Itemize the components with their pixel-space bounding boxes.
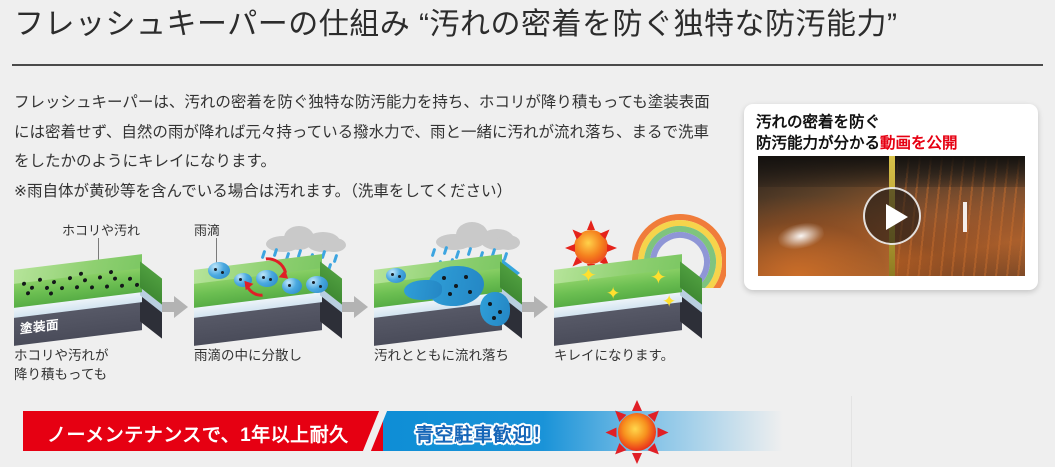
body-copy: フレッシュキーパーは、汚れの密着を防ぐ独特な防汚能力を持ち、ホコリが降り積もって… — [14, 88, 714, 206]
banner-blue-text: 青空駐車歓迎！ — [415, 420, 552, 447]
banner-red-text: ノーメンテナンスで、1年以上耐久 — [47, 420, 349, 447]
panel2-caption-line1: 雨滴の中に分散し — [194, 346, 370, 365]
play-icon[interactable] — [863, 187, 921, 245]
panel2-caption: 雨滴の中に分散し — [194, 346, 370, 365]
product-feature-page: フレッシュキーパーの仕組み “汚れの密着を防ぐ独特な防汚能力” フレッシュキーパ… — [0, 0, 1055, 467]
promo-banner: ノーメンテナンスで、1年以上耐久 青空駐車歓迎！ — [23, 411, 783, 451]
play-triangle — [886, 204, 908, 230]
sun-core — [618, 413, 656, 451]
right-arrow-icon — [522, 296, 548, 318]
video-headline-line2: 防汚能力が分かる動画を公開 — [756, 133, 1028, 154]
video-headline-plain: 防汚能力が分かる — [756, 135, 880, 152]
title-divider — [12, 64, 1043, 66]
diagram-panel-3: 汚れとともに流れ落ち — [370, 218, 530, 378]
right-arrow-icon — [162, 296, 188, 318]
panel1-coating-stack: 塗装面 — [14, 270, 162, 340]
panel1-annotation: ホコリや汚れ — [62, 220, 140, 239]
video-headline: 汚れの密着を防ぐ 防汚能力が分かる動画を公開 — [756, 112, 1028, 154]
video-headline-accent: 動画を公開 — [880, 135, 958, 152]
panel1-caption: ホコリや汚れが 降り積もっても — [14, 346, 190, 384]
thumbnail-white-marker — [963, 202, 967, 232]
diagram-panel-2: 雨滴 — [190, 218, 350, 378]
panel1-caption-line1: ホコリや汚れが — [14, 346, 190, 365]
panel1-caption-line2: 降り積もっても — [14, 365, 190, 384]
panel3-caption: 汚れとともに流れ落ち — [374, 346, 550, 365]
diagram-panel-1: ホコリや汚れ 塗装面 — [10, 218, 170, 378]
video-headline-line1: 汚れの密着を防ぐ — [756, 112, 1028, 133]
body-note: ※雨自体が黄砂等を含んでいる場合は汚れます。（洗車をしてください） — [14, 177, 714, 207]
page-title: フレッシュキーパーの仕組み “汚れの密着を防ぐ独特な防汚能力” — [14, 4, 1034, 46]
video-card[interactable]: 汚れの密着を防ぐ 防汚能力が分かる動画を公開 — [744, 104, 1038, 290]
diagram-panel-4: ✦ ✦ ✦ ✦ キレイになります。 — [550, 218, 710, 378]
panel4-caption: キレイになります。 — [554, 346, 730, 365]
panel3-caption-line1: 汚れとともに流れ落ち — [374, 346, 550, 365]
layout-hairline — [851, 396, 852, 467]
sun-icon — [611, 406, 663, 458]
right-arrow-icon — [342, 296, 368, 318]
body-paragraph: フレッシュキーパーは、汚れの密着を防ぐ独特な防汚能力を持ち、ホコリが降り積もって… — [14, 88, 714, 177]
panel4-coating-stack — [554, 270, 702, 340]
process-diagram: ホコリや汚れ 塗装面 — [0, 218, 730, 378]
panel4-caption-line1: キレイになります。 — [554, 346, 730, 365]
panel2-annotation: 雨滴 — [194, 220, 220, 239]
video-thumbnail[interactable] — [758, 156, 1025, 276]
